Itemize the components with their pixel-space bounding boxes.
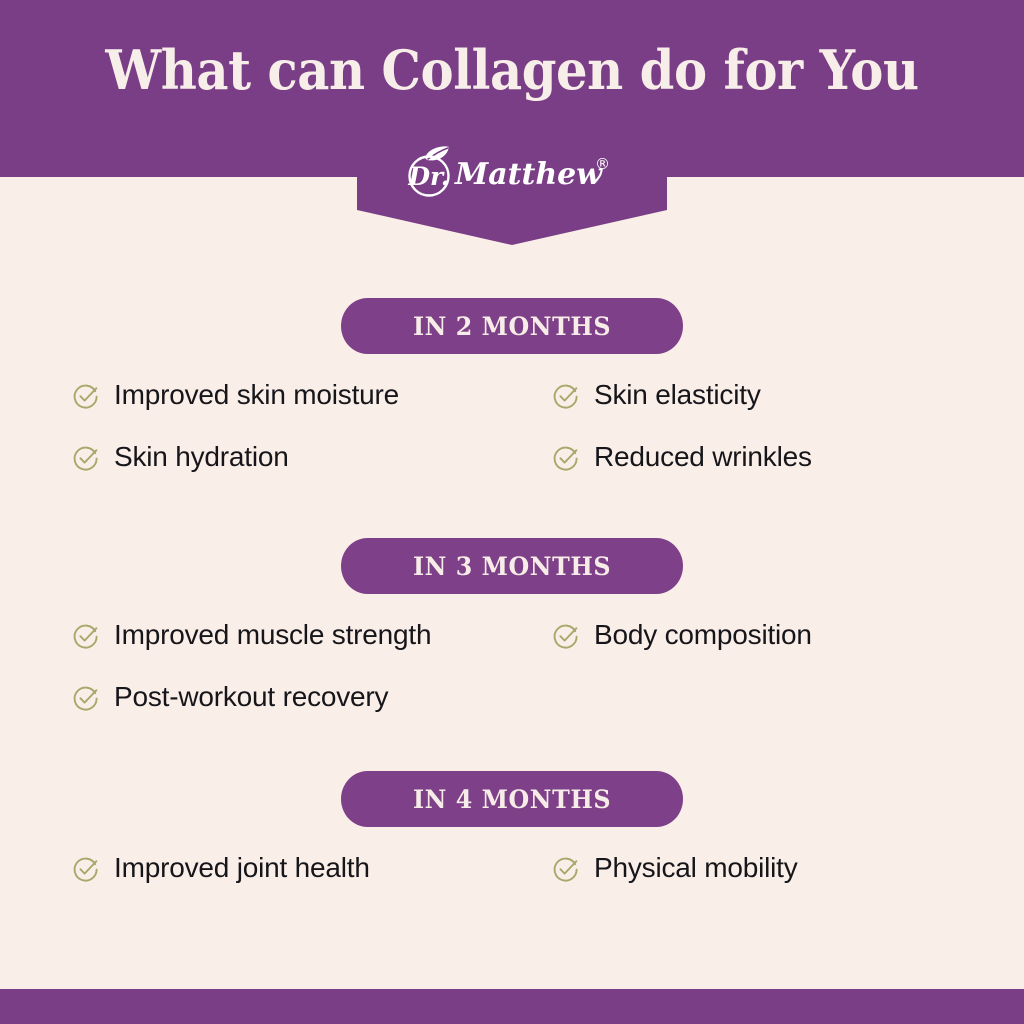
benefit-item: Post-workout recovery	[72, 682, 552, 713]
section-pill-label: IN 4 MONTHS	[341, 771, 683, 827]
benefit-row: Skin hydration Reduced wrinkles	[72, 442, 958, 504]
infographic-poster: What can Collagen do for You Dr. Matthew…	[0, 0, 1024, 1024]
benefit-row: Improved joint health Physical mobility	[72, 853, 958, 915]
brand-logo: Dr. Matthew ®	[397, 143, 627, 199]
section-in-2-months: IN 2 MONTHS Improved skin moisture	[0, 298, 1024, 504]
benefit-label: Improved joint health	[114, 853, 370, 884]
benefit-row: Improved muscle strength Body compositio…	[72, 620, 958, 682]
benefit-item: Reduced wrinkles	[552, 442, 958, 473]
check-circle-icon	[72, 855, 100, 883]
check-circle-icon	[72, 622, 100, 650]
check-circle-icon	[552, 855, 580, 883]
benefit-rows: Improved muscle strength Body compositio…	[0, 620, 1024, 744]
svg-text:®: ®	[595, 155, 610, 173]
check-circle-icon	[552, 444, 580, 472]
svg-text:Dr.: Dr.	[407, 162, 449, 191]
check-circle-icon	[72, 444, 100, 472]
benefit-label: Skin elasticity	[594, 380, 761, 411]
check-circle-icon	[552, 382, 580, 410]
benefit-item: Improved skin moisture	[72, 380, 552, 411]
footer-band	[0, 989, 1024, 1024]
benefit-label: Skin hydration	[114, 442, 289, 473]
page-title: What can Collagen do for You	[41, 0, 983, 140]
benefit-row: Post-workout recovery	[72, 682, 958, 744]
benefit-item: Improved muscle strength	[72, 620, 552, 651]
check-circle-icon	[552, 622, 580, 650]
benefit-label: Body composition	[594, 620, 812, 651]
benefit-row: Improved skin moisture Skin elasticity	[72, 380, 958, 442]
benefit-item: Skin hydration	[72, 442, 552, 473]
benefit-item: Skin elasticity	[552, 380, 958, 411]
benefit-label: Reduced wrinkles	[594, 442, 812, 473]
section-pill-label: IN 2 MONTHS	[341, 298, 683, 354]
section-in-4-months: IN 4 MONTHS Improved joint health	[0, 771, 1024, 915]
benefit-item: Improved joint health	[72, 853, 552, 884]
svg-text:Matthew: Matthew	[454, 157, 603, 192]
benefit-item: Physical mobility	[552, 853, 958, 884]
benefit-label: Improved muscle strength	[114, 620, 431, 651]
section-pill-label: IN 3 MONTHS	[341, 538, 683, 594]
benefit-rows: Improved skin moisture Skin elasticity	[0, 380, 1024, 504]
benefit-label: Physical mobility	[594, 853, 798, 884]
benefit-rows: Improved joint health Physical mobility	[0, 853, 1024, 915]
section-in-3-months: IN 3 MONTHS Improved muscle strength	[0, 538, 1024, 744]
benefit-label: Improved skin moisture	[114, 380, 399, 411]
check-circle-icon	[72, 382, 100, 410]
benefit-label: Post-workout recovery	[114, 682, 388, 713]
benefit-item: Body composition	[552, 620, 958, 651]
check-circle-icon	[72, 684, 100, 712]
